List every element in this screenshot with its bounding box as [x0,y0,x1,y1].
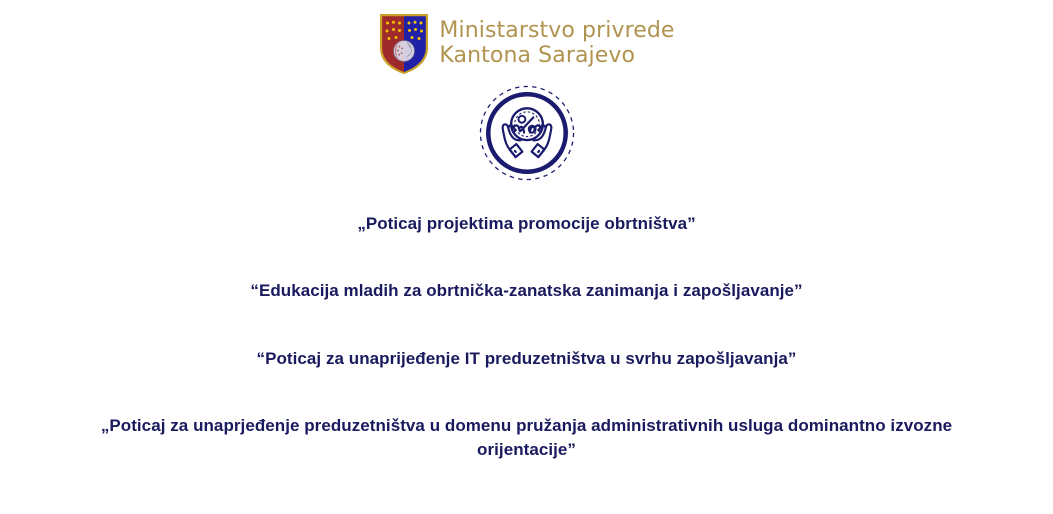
ministry-name: Ministarstvo privrede Kantona Sarajevo [439,19,674,68]
ministry-name-line-1: Ministarstvo privrede [439,19,674,44]
ministry-logo-header: Ministarstvo privrede Kantona Sarajevo [0,12,1053,76]
emblem-dashed-ring [480,86,573,179]
programme-title-promocija-obrtnistva: „Poticaj projektima promocije obrtništva… [0,212,1053,235]
programme-title-it-preduzetnistvo: “Poticaj za unaprijeđenje IT preduzetniš… [0,347,1053,370]
programme-title-list: „Poticaj projektima promocije obrtništva… [0,196,1053,461]
slide-canvas: Ministarstvo privrede Kantona Sarajevo [0,0,1053,514]
logo-lockup: Ministarstvo privrede Kantona Sarajevo [378,12,674,76]
ministry-name-line-2: Kantona Sarajevo [439,44,674,69]
right-hand-shape [529,124,550,157]
programme-title-administrativne-usluge: „Poticaj za unaprjeđenje preduzetništva … [0,414,1053,461]
programme-title-edukacija-mladih: “Edukacija mladih za obrtnička-zanatska … [0,279,1053,302]
emblem-solid-ring [488,94,565,171]
kanton-sarajevo-coat-of-arms-icon [378,12,430,76]
hands-holding-percent-coin-icon [478,84,576,182]
emblem-container [0,84,1053,182]
